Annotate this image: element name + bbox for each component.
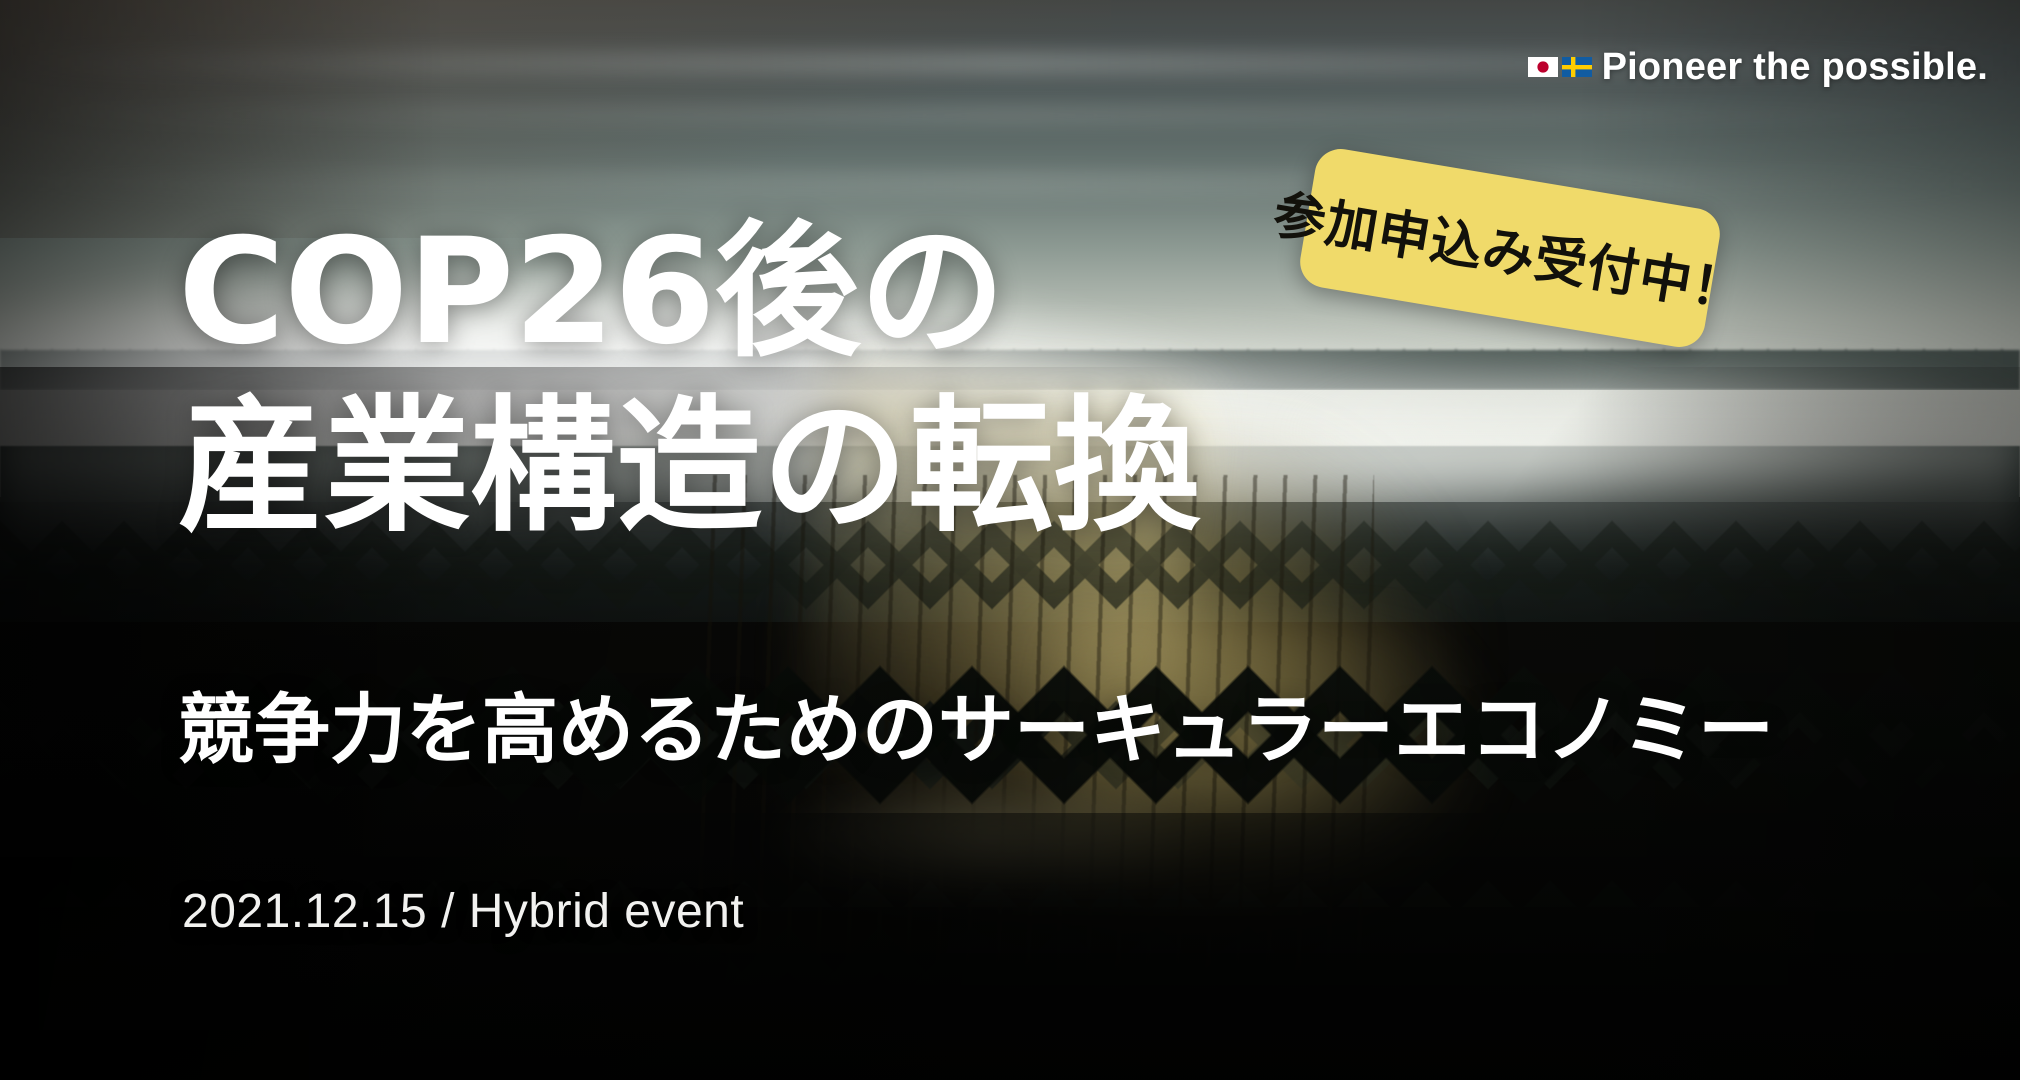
sweden-flag-icon	[1562, 57, 1592, 77]
title-line-2: 産業構造の転換	[178, 387, 1778, 548]
page-subtitle: 競争力を高めるためのサーキュラーエコノミー	[178, 688, 1774, 772]
flag-pair	[1528, 57, 1592, 77]
banner-content: Pioneer the possible. 参加申込み受付中！ COP26後の …	[0, 0, 2020, 1080]
japan-flag-icon	[1528, 57, 1558, 77]
event-date-format: 2021.12.15 / Hybrid event	[182, 884, 744, 939]
page-title: COP26後の 産業構造の転換	[178, 212, 1778, 547]
brand-logo: Pioneer the possible.	[1528, 48, 1988, 86]
title-line-1: COP26後の	[178, 212, 1778, 373]
event-banner: Pioneer the possible. 参加申込み受付中！ COP26後の …	[0, 0, 2020, 1080]
logo-tagline: Pioneer the possible.	[1602, 48, 1988, 86]
